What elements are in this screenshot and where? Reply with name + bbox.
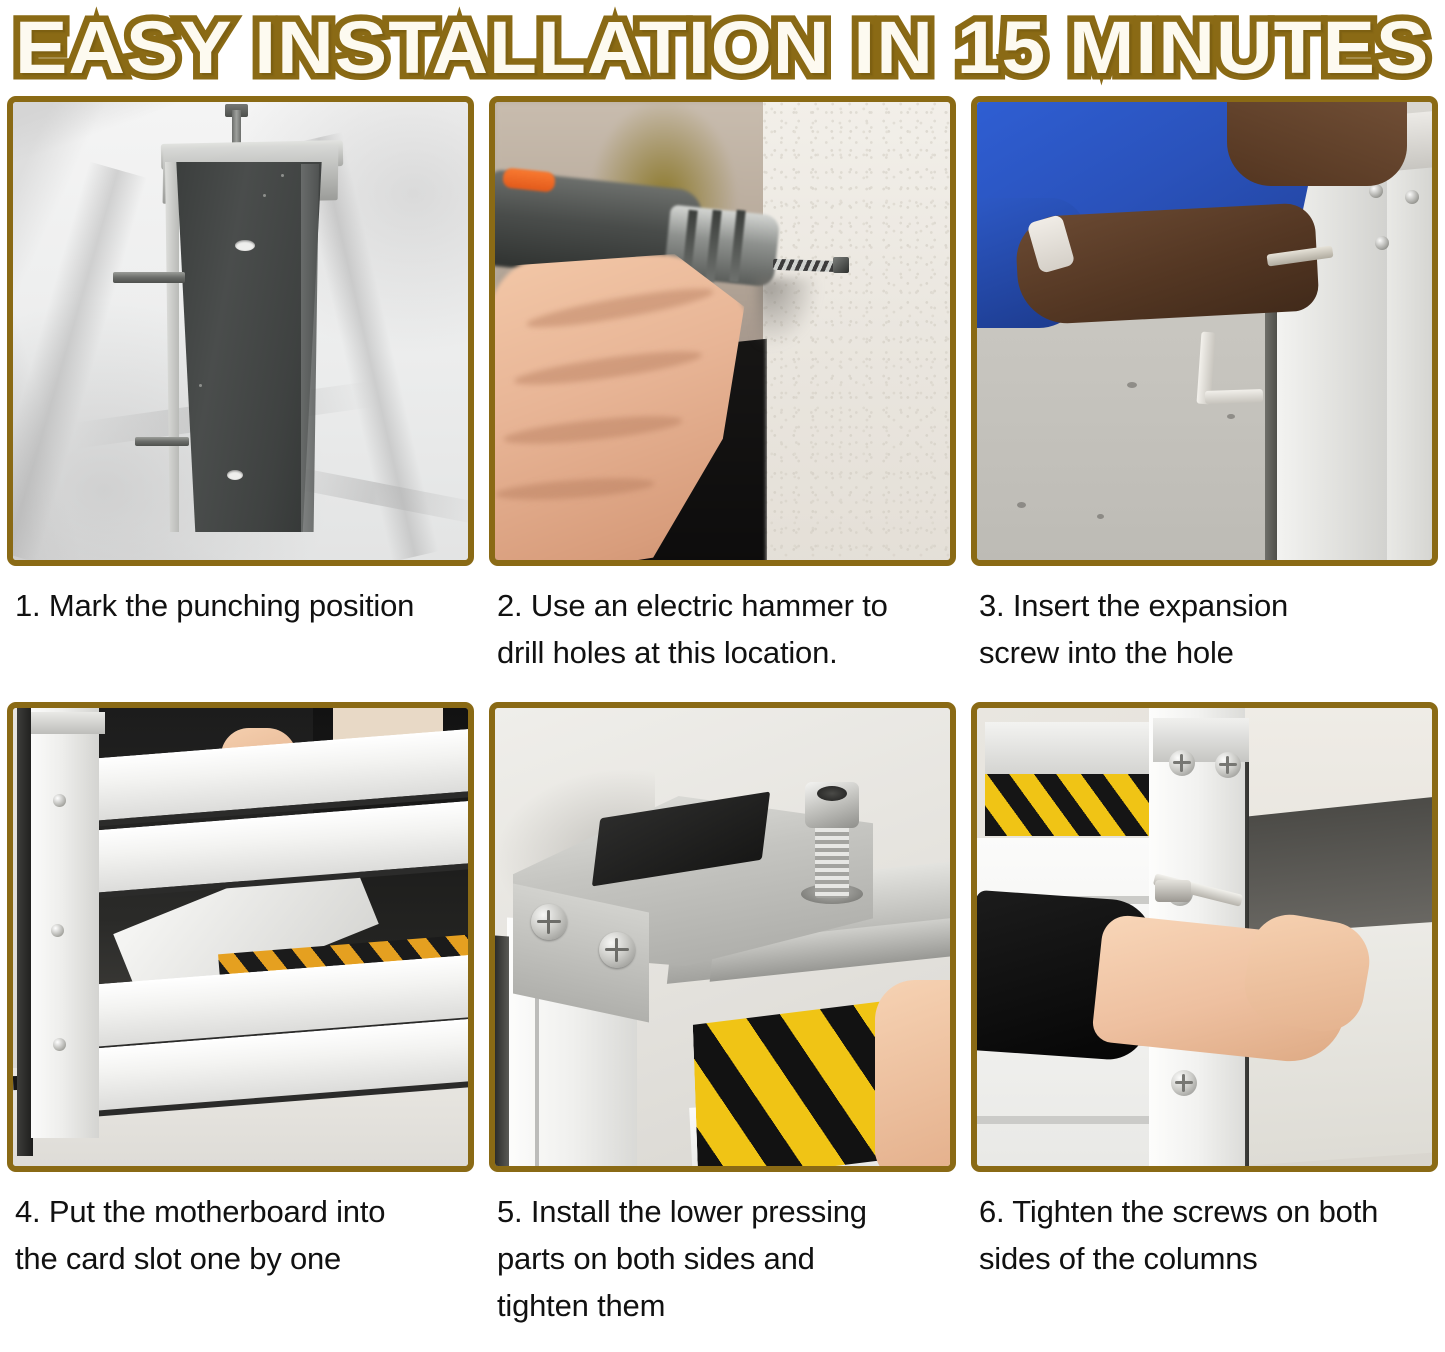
- floor-speck: [1017, 502, 1026, 508]
- photo-drill-holes-in-wall: [495, 102, 950, 560]
- photo-insert-boards-into-slot: [13, 708, 468, 1166]
- caption-line: 5. Install the lower pressing: [497, 1188, 950, 1235]
- photo-mark-punching-position: [13, 102, 468, 560]
- caption-line: the card slot one by one: [15, 1235, 468, 1282]
- mounting-hole-lower: [227, 470, 243, 480]
- hand-supporting-part: [875, 980, 950, 1166]
- floor-speck: [1127, 382, 1137, 388]
- step-card-4: 4. Put the motherboard into the card slo…: [7, 702, 474, 1329]
- photo-lower-pressing-parts: [495, 708, 950, 1166]
- steps-row-bottom: 4. Put the motherboard into the card slo…: [0, 702, 1445, 1329]
- threaded-bolt-shaft: [815, 820, 849, 898]
- step-card-2: 2. Use an electric hammer to drill holes…: [489, 96, 956, 676]
- column-screw: [1405, 190, 1419, 204]
- bolt-socket-hole: [817, 786, 847, 801]
- column-screw-top-right: [1215, 752, 1241, 778]
- step-photo-6: [971, 702, 1438, 1172]
- panel-seam: [977, 1116, 1177, 1124]
- step-caption-1: 1. Mark the punching position: [7, 566, 474, 629]
- protruding-bolt-upper: [113, 272, 185, 283]
- worker-second-arm: [1227, 102, 1407, 186]
- floor-speck: [1097, 514, 1104, 519]
- caption-line: drill holes at this location.: [497, 629, 950, 676]
- photo-tighten-column-screws: [977, 708, 1432, 1166]
- step-photo-4: [7, 702, 474, 1172]
- column-screw: [1375, 236, 1389, 250]
- caption-line: 3. Insert the expansion: [979, 582, 1432, 629]
- step-caption-2: 2. Use an electric hammer to drill holes…: [489, 566, 956, 676]
- step-photo-1: [7, 96, 474, 566]
- protruding-bolt-lower: [135, 437, 189, 446]
- panel-top-block: [985, 722, 1165, 776]
- step-card-3: 3. Insert the expansion screw into the h…: [971, 96, 1438, 676]
- page-title: EASY INSTALLATION IN 15 MINUTES: [15, 9, 1429, 87]
- drill-bit: [773, 259, 841, 272]
- photo-insert-expansion-screw: [977, 102, 1432, 560]
- surface-speck: [263, 194, 266, 197]
- hazard-stripe-tape: [985, 774, 1157, 836]
- column-screw: [53, 794, 66, 807]
- surface-speck: [199, 384, 202, 387]
- white-column-with-slot: [31, 708, 99, 1138]
- phillips-screw: [531, 904, 567, 940]
- caption-line: 1. Mark the punching position: [15, 582, 468, 629]
- white-column-side: [1387, 122, 1432, 560]
- step-card-6: 6. Tighten the screws on both sides of t…: [971, 702, 1438, 1329]
- column-screw: [51, 924, 64, 937]
- column-screw: [1369, 184, 1383, 198]
- column-top-bracket: [31, 712, 105, 734]
- drill-bit-tip: [833, 257, 849, 273]
- step-caption-6: 6. Tighten the screws on both sides of t…: [971, 1172, 1438, 1282]
- phillips-screw: [599, 932, 635, 968]
- step-caption-5: 5. Install the lower pressing parts on b…: [489, 1172, 956, 1329]
- caption-line: screw into the hole: [979, 629, 1432, 676]
- steps-grid: 1. Mark the punching position: [0, 96, 1445, 1329]
- caption-line: 6. Tighten the screws on both: [979, 1188, 1432, 1235]
- steps-row-top: 1. Mark the punching position: [0, 96, 1445, 676]
- drill-dust: [757, 278, 819, 348]
- surface-speck: [281, 174, 284, 177]
- allen-key-short-arm: [1205, 389, 1263, 404]
- hex-key-head: [1155, 880, 1191, 902]
- step-caption-3: 3. Insert the expansion screw into the h…: [971, 566, 1438, 676]
- page-header: EASY INSTALLATION IN 15 MINUTES: [0, 0, 1445, 96]
- column-screw-top-left: [1169, 750, 1195, 776]
- step-card-1: 1. Mark the punching position: [7, 96, 474, 676]
- floor-speck: [1227, 414, 1235, 419]
- column-screw-bottom: [1171, 1070, 1197, 1096]
- step-photo-2: [489, 96, 956, 566]
- caption-line: sides of the columns: [979, 1235, 1432, 1282]
- step-photo-3: [971, 96, 1438, 566]
- mounting-hole-upper: [235, 240, 255, 251]
- column-shadow-edge: [495, 936, 509, 1166]
- caption-line: tighten them: [497, 1282, 950, 1329]
- caption-line: parts on both sides and: [497, 1235, 950, 1282]
- step-photo-5: [489, 702, 956, 1172]
- caption-line: 4. Put the motherboard into: [15, 1188, 468, 1235]
- column-screw: [53, 1038, 66, 1051]
- step-caption-4: 4. Put the motherboard into the card slo…: [7, 1172, 474, 1282]
- step-card-5: 5. Install the lower pressing parts on b…: [489, 702, 956, 1329]
- caption-line: 2. Use an electric hammer to: [497, 582, 950, 629]
